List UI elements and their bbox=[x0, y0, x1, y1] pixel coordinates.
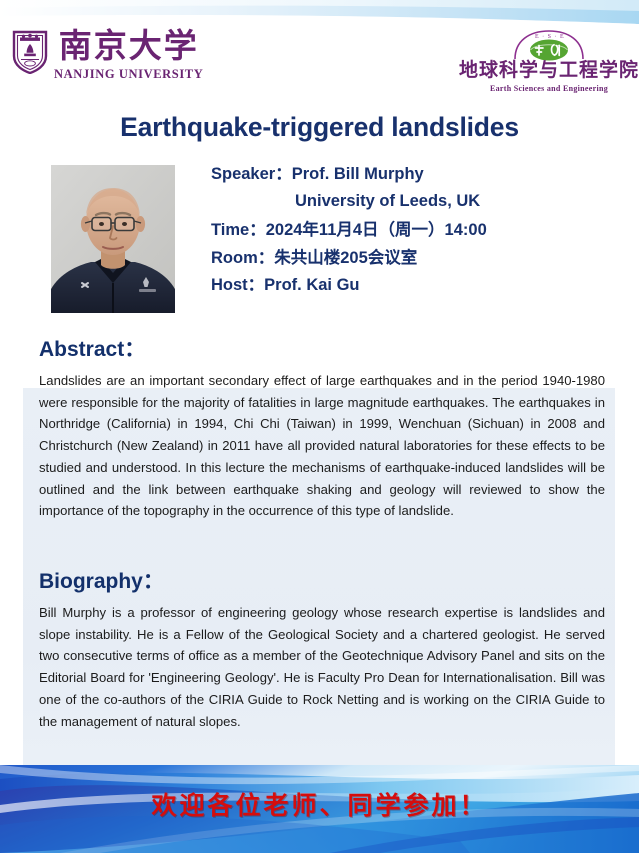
nanjing-university-crest-icon bbox=[12, 30, 48, 74]
poster-title: Earthquake-triggered landslides bbox=[0, 112, 639, 143]
nju-chinese-name: 南京大学 bbox=[59, 30, 199, 66]
host-value: Prof. Kai Gu bbox=[264, 276, 359, 294]
nanjing-university-logo: 南京大学 NANJING UNIVERSITY bbox=[12, 30, 203, 82]
nju-english-name: NANJING UNIVERSITY bbox=[54, 67, 203, 82]
earth-sciences-emblem-icon: E · S · E bbox=[506, 26, 592, 62]
seminar-poster: 南京大学 NANJING UNIVERSITY E · S · E 地球科学与工… bbox=[0, 0, 639, 853]
speaker-name: Prof. Bill Murphy bbox=[292, 165, 424, 183]
speaker-photo bbox=[51, 165, 175, 313]
ese-chinese-name: 地球科学与工程学院 bbox=[459, 61, 639, 82]
speaker-label: Speaker： bbox=[211, 165, 292, 183]
host-label: Host： bbox=[211, 276, 264, 294]
speaker-affiliation: University of Leeds, UK bbox=[295, 193, 631, 210]
biography-heading: Biography： bbox=[39, 565, 605, 595]
poster-header: 南京大学 NANJING UNIVERSITY E · S · E 地球科学与工… bbox=[0, 26, 639, 98]
biography-body: Bill Murphy is a professor of engineerin… bbox=[39, 602, 605, 732]
time-value: 2024年11月4日（周一）14:00 bbox=[266, 221, 487, 239]
biography-section: Biography： Bill Murphy is a professor of… bbox=[39, 565, 605, 732]
time-label: Time： bbox=[211, 221, 266, 239]
room-label: Room： bbox=[211, 249, 274, 267]
welcome-message: 欢迎各位老师、同学参加！ bbox=[0, 786, 639, 822]
room-value: 朱共山楼205会议室 bbox=[274, 249, 417, 267]
host-line: Host：Prof. Kai Gu bbox=[211, 277, 631, 294]
nju-wordmark: 南京大学 NANJING UNIVERSITY bbox=[54, 30, 203, 82]
time-line: Time：2024年11月4日（周一）14:00 bbox=[211, 222, 631, 239]
ese-english-name: Earth Sciences and Engineering bbox=[490, 84, 608, 93]
room-line: Room：朱共山楼205会议室 bbox=[211, 250, 631, 267]
seminar-info-block: Speaker：Prof. Bill Murphy University of … bbox=[211, 166, 631, 305]
speaker-line: Speaker：Prof. Bill Murphy bbox=[211, 166, 631, 183]
earth-sciences-school-logo: E · S · E 地球科学与工程学院 Earth Sciences and E… bbox=[469, 26, 629, 93]
abstract-heading: Abstract： bbox=[39, 333, 605, 363]
abstract-body: Landslides are an important secondary ef… bbox=[39, 370, 605, 522]
abstract-section: Abstract： Landslides are an important se… bbox=[39, 333, 605, 522]
svg-text:E · S · E: E · S · E bbox=[535, 34, 565, 40]
